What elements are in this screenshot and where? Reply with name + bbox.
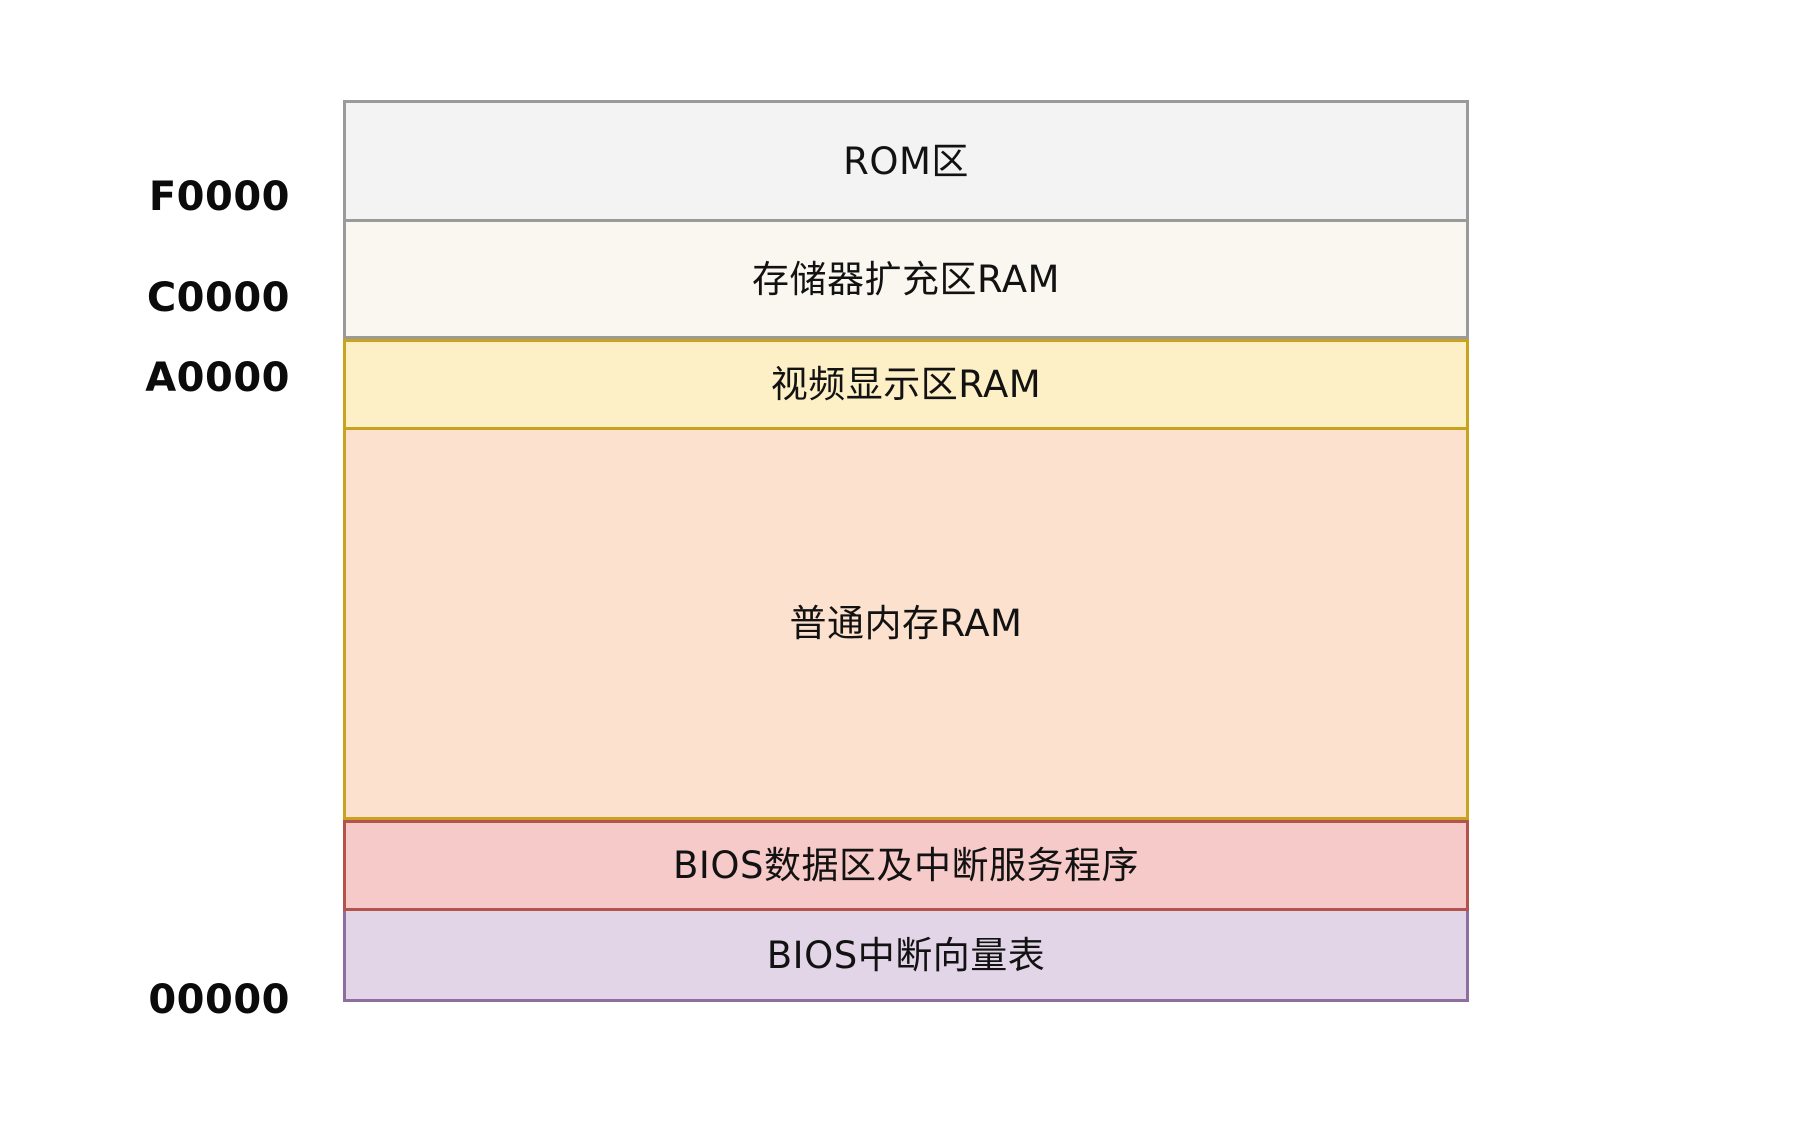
address-label-00000: 00000 <box>30 977 290 1023</box>
address-label-a0000: A0000 <box>30 355 290 401</box>
address-label-f0000: F0000 <box>30 174 290 220</box>
address-label-c0000: C0000 <box>30 275 290 321</box>
memory-band-extension-ram: 存储器扩充区RAM <box>343 222 1469 339</box>
memory-band-bios-data-area-label: BIOS数据区及中断服务程序 <box>673 847 1139 884</box>
memory-band-extension-ram-label: 存储器扩充区RAM <box>752 261 1060 298</box>
memory-map-diagram: F0000 C0000 A0000 00000 ROM区 存储器扩充区RAM 视… <box>0 0 1796 1148</box>
memory-band-conventional-ram: 普通内存RAM <box>343 430 1469 820</box>
memory-band-rom-label: ROM区 <box>843 143 969 180</box>
memory-band-bios-interrupt-vector-table: BIOS中断向量表 <box>343 911 1469 1002</box>
memory-band-bios-interrupt-vector-table-label: BIOS中断向量表 <box>767 937 1045 974</box>
memory-band-conventional-ram-label: 普通内存RAM <box>790 605 1023 642</box>
memory-band-rom: ROM区 <box>343 100 1469 222</box>
memory-band-video-ram: 视频显示区RAM <box>343 339 1469 430</box>
memory-band-bios-data-area: BIOS数据区及中断服务程序 <box>343 820 1469 911</box>
memory-band-video-ram-label: 视频显示区RAM <box>771 366 1041 403</box>
